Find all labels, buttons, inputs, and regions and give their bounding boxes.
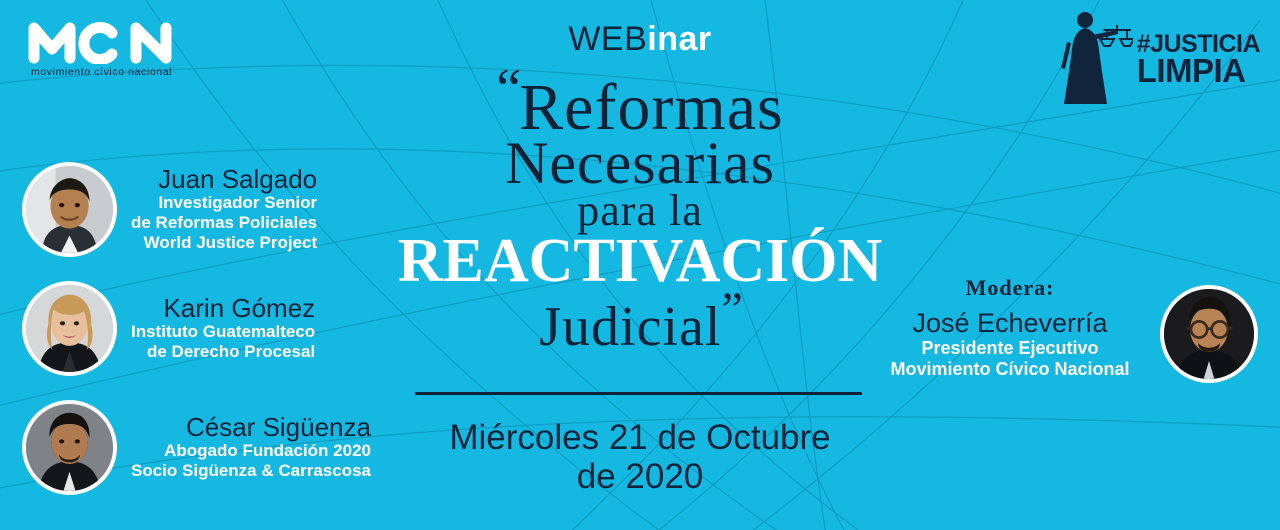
webinar-suffix: inar bbox=[647, 20, 711, 58]
avatar bbox=[22, 400, 117, 495]
avatar bbox=[1160, 285, 1258, 383]
speaker-role-line: Socio Sigüenza & Carrascosa bbox=[131, 461, 371, 481]
webinar-prefix: WEB bbox=[568, 20, 647, 58]
close-quote-mark: ” bbox=[721, 283, 740, 336]
speaker-name: Karin Gómez bbox=[131, 295, 315, 322]
speaker-card: César Sigüenza Abogado Fundación 2020 So… bbox=[22, 400, 371, 495]
title-line-reactivacion: REACTIVACIÓN bbox=[340, 230, 940, 292]
title-word-judicial: Judicial bbox=[539, 296, 721, 358]
webinar-banner: movimiento cívico nacional bbox=[0, 0, 1280, 530]
mcn-logo-subtitle: movimiento cívico nacional bbox=[31, 66, 206, 78]
speaker-card: Karin Gómez Instituto Guatemalteco de De… bbox=[22, 281, 315, 376]
speaker-text: Karin Gómez Instituto Guatemalteco de De… bbox=[131, 295, 315, 362]
event-date-line-1: Miércoles 21 de Octubre bbox=[370, 418, 910, 457]
title-line-para-la: para la bbox=[340, 189, 940, 232]
mcn-logo: movimiento cívico nacional bbox=[26, 18, 206, 78]
title-line-judicial: Judicial” bbox=[340, 286, 940, 355]
speaker-role-line: Investigador Senior bbox=[131, 193, 317, 213]
lady-justice-icon bbox=[1055, 8, 1133, 112]
event-date: Miércoles 21 de Octubre de 2020 bbox=[370, 418, 910, 496]
avatar bbox=[22, 162, 117, 257]
speaker-role-line: Abogado Fundación 2020 bbox=[131, 441, 371, 461]
title-block: WEBinar “Reformas Necesarias para la REA… bbox=[340, 22, 940, 355]
justicia-limpia-logo: #JUSTICIA LIMPIA bbox=[1055, 8, 1260, 112]
speaker-text: Juan Salgado Investigador Senior de Refo… bbox=[131, 166, 317, 253]
speaker-role-line: World Justice Project bbox=[131, 233, 317, 253]
speaker-role-line: Instituto Guatemalteco bbox=[131, 322, 315, 342]
avatar bbox=[22, 281, 117, 376]
webinar-label: WEBinar bbox=[340, 22, 940, 58]
title-line-reformas: “Reformas bbox=[340, 62, 940, 141]
mcn-wordmark-icon bbox=[26, 18, 176, 64]
speaker-photo-juan-salgado bbox=[26, 166, 113, 253]
justicia-limpia-wordmark: #JUSTICIA LIMPIA bbox=[1137, 33, 1260, 86]
speaker-text: César Sigüenza Abogado Fundación 2020 So… bbox=[131, 414, 371, 481]
moderator-label: Modera: bbox=[860, 275, 1160, 301]
moderator-role-line: Movimiento Cívico Nacional bbox=[860, 359, 1160, 380]
moderator-block: Modera: José Echeverría Presidente Ejecu… bbox=[860, 275, 1160, 380]
speaker-name: César Sigüenza bbox=[131, 414, 371, 441]
moderator-photo-jose-echeverria bbox=[1164, 289, 1254, 379]
speaker-photo-cesar-siguenza bbox=[26, 404, 113, 491]
moderator-name: José Echeverría bbox=[860, 309, 1160, 338]
speaker-role-line: de Reformas Policiales bbox=[131, 213, 317, 233]
speaker-card: Juan Salgado Investigador Senior de Refo… bbox=[22, 162, 317, 257]
title-line-necesarias: Necesarias bbox=[340, 134, 940, 193]
event-date-line-2: de 2020 bbox=[370, 457, 910, 496]
limpia-line: LIMPIA bbox=[1137, 56, 1260, 86]
moderator-role-line: Presidente Ejecutivo bbox=[860, 338, 1160, 359]
speaker-photo-karin-gomez bbox=[26, 285, 113, 372]
divider-rule bbox=[415, 392, 862, 395]
speaker-name: Juan Salgado bbox=[131, 166, 317, 193]
open-quote-mark: “ bbox=[496, 58, 519, 120]
speaker-role-line: de Derecho Procesal bbox=[131, 342, 315, 362]
